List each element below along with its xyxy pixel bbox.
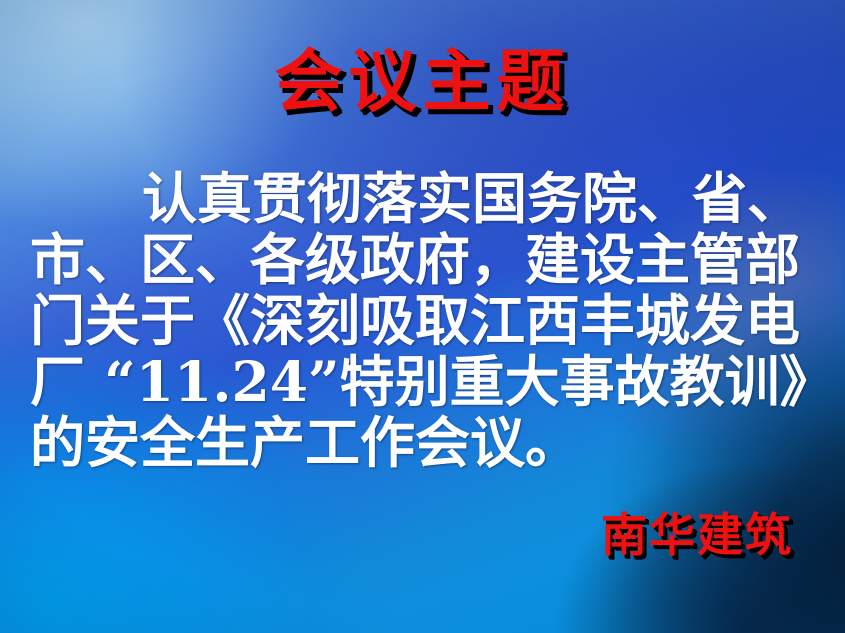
slide-signature: 南华建筑 bbox=[601, 512, 793, 558]
slide-title: 会议主题 bbox=[0, 48, 845, 116]
slide-body-text: 认真贯彻落实国务院、省、 市、区、各级政府，建设主管部 门关于《深刻吸取江西丰城… bbox=[30, 168, 820, 473]
body-line-2: 市、区、各级政府，建设主管部 bbox=[30, 229, 820, 290]
presentation-slide: 会议主题 认真贯彻落实国务院、省、 市、区、各级政府，建设主管部 门关于《深刻吸… bbox=[0, 0, 845, 633]
body-line-3: 门关于《深刻吸取江西丰城发电 bbox=[30, 290, 820, 351]
body-line-4: 厂 “11.24”特别重大事故教训》 bbox=[30, 351, 820, 412]
body-line-5: 的安全生产工作会议。 bbox=[30, 412, 820, 473]
body-line-1: 认真贯彻落实国务院、省、 bbox=[30, 168, 820, 229]
